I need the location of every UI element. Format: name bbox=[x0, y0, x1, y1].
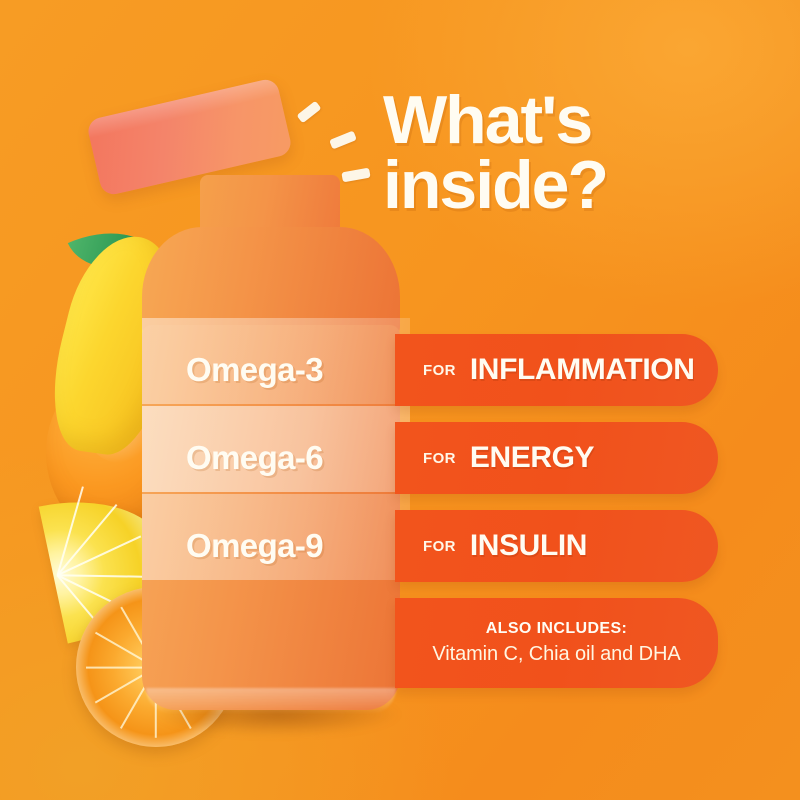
bottle-neck bbox=[200, 175, 340, 235]
also-includes-items: Vitamin C, Chia oil and DHA bbox=[432, 643, 680, 666]
benefit-pill-energy[interactable]: FOR ENERGY bbox=[395, 422, 718, 494]
for-label: FOR bbox=[423, 538, 456, 555]
bottle-shoulder bbox=[142, 227, 400, 337]
benefit-label: INSULIN bbox=[470, 529, 587, 563]
page-title: What's inside? bbox=[383, 88, 783, 219]
for-label: FOR bbox=[423, 362, 456, 379]
benefit-pill-insulin[interactable]: FOR INSULIN bbox=[395, 510, 718, 582]
also-includes-pill[interactable]: ALSO INCLUDES: Vitamin C, Chia oil and D… bbox=[395, 598, 718, 688]
sparkle-icon bbox=[296, 101, 321, 124]
benefit-label: ENERGY bbox=[470, 441, 594, 475]
sparkle-icon bbox=[329, 130, 357, 149]
benefit-label: INFLAMMATION bbox=[470, 353, 695, 387]
for-label: FOR bbox=[423, 450, 456, 467]
ingredient-label-omega-6: Omega-6 bbox=[186, 439, 323, 477]
ingredient-label-omega-9: Omega-9 bbox=[186, 527, 323, 565]
also-includes-heading: ALSO INCLUDES: bbox=[486, 620, 628, 638]
headline-line-2: inside? bbox=[383, 153, 783, 218]
benefit-pill-inflammation[interactable]: FOR INFLAMMATION bbox=[395, 334, 718, 406]
ingredient-label-omega-3: Omega-3 bbox=[186, 351, 323, 389]
bottle-base-highlight bbox=[146, 688, 396, 714]
infographic-canvas: Omega-3 Omega-6 Omega-9 FOR INFLAMMATION… bbox=[0, 0, 800, 800]
